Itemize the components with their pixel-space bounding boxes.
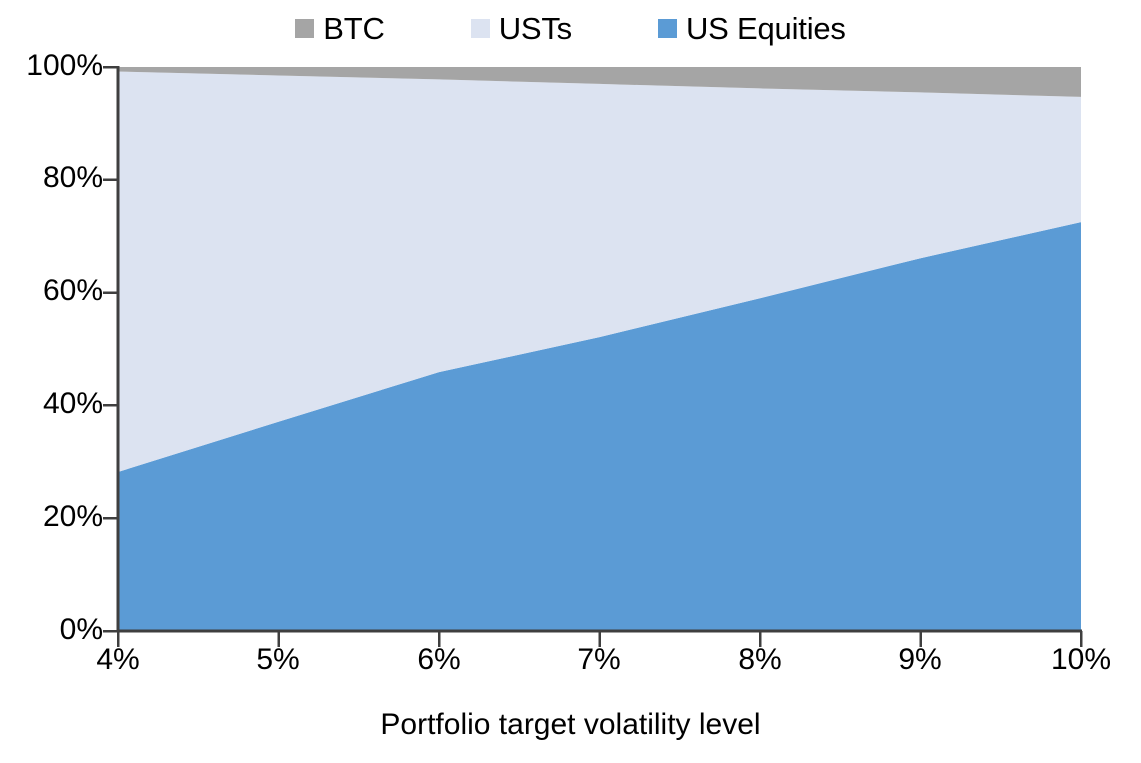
- xtick-label-10: 10%: [1021, 645, 1141, 675]
- ytick-label-80: 80%: [0, 163, 103, 193]
- xtick-label-8: 8%: [700, 645, 820, 675]
- xtick-label-6: 6%: [379, 645, 499, 675]
- ytick-label-0: 0%: [0, 615, 103, 645]
- xtick-label-5: 5%: [218, 645, 338, 675]
- ytick-label-100: 100%: [0, 51, 103, 81]
- xtick-label-7: 7%: [539, 645, 659, 675]
- series-layer: [118, 67, 1081, 631]
- x-axis-title: Portfolio target volatility level: [0, 708, 1141, 742]
- xtick-label-4: 4%: [58, 645, 178, 675]
- xtick-label-9: 9%: [860, 645, 980, 675]
- ytick-label-60: 60%: [0, 276, 103, 306]
- ytick-label-20: 20%: [0, 502, 103, 532]
- plot-area: 100% 80% 60% 40% 20% 0% 4% 5% 6% 7%: [0, 0, 1141, 763]
- ytick-label-40: 40%: [0, 389, 103, 419]
- stacked-area-chart: BTC USTs US Equities 100% 80% 60% 40%: [0, 0, 1141, 763]
